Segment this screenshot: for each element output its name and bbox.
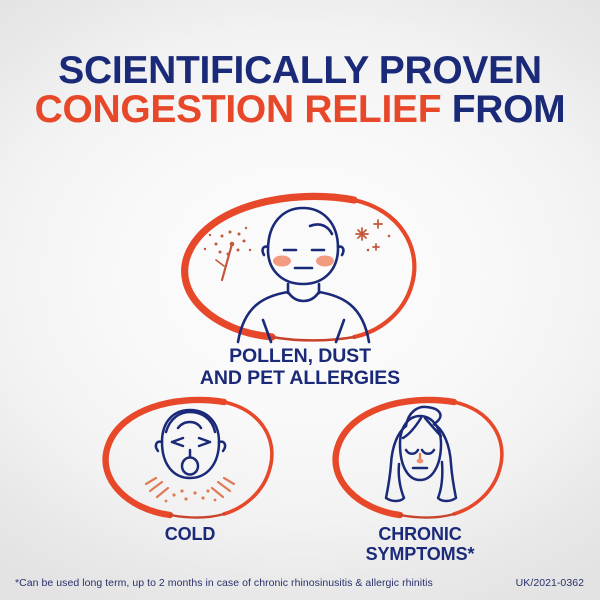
allergy-caption: POLLEN, DUST AND PET ALLERGIES: [172, 346, 428, 390]
page-title: SCIENTIFICALLY PROVEN CONGESTION RELIEF …: [0, 52, 600, 129]
tired-woman-face-icon: [330, 398, 510, 520]
red-nose: [417, 454, 424, 463]
item-allergy: POLLEN, DUST AND PET ALLERGIES: [172, 192, 428, 390]
allergy-icon-area: [172, 192, 428, 342]
chronic-icon-area: [330, 398, 510, 520]
sparkles-icon: [356, 220, 390, 251]
item-chronic: CHRONIC SYMPTOMS*: [330, 398, 510, 564]
chronic-caption: CHRONIC SYMPTOMS*: [330, 524, 510, 564]
headline-line-1: SCIENTIFICALLY PROVEN: [0, 52, 600, 91]
reference-code: UK/2021-0362: [516, 577, 584, 589]
headline-from: FROM: [441, 88, 565, 131]
sneezing-face-icon: [100, 398, 280, 520]
orange-swoosh-ring: [336, 400, 502, 518]
blush-cheeks: [273, 256, 334, 267]
sneezing-head: [156, 410, 225, 478]
poster-canvas: SCIENTIFICALLY PROVEN CONGESTION RELIEF …: [0, 0, 600, 600]
cold-icon-area: [100, 398, 280, 520]
footnote-text: *Can be used long term, up to 2 months i…: [15, 577, 433, 589]
item-cold: COLD: [100, 398, 280, 544]
sneeze-droplets-icon: [146, 478, 234, 497]
child-allergy-face-icon: [172, 192, 428, 342]
sneeze-dots: [165, 489, 217, 502]
child-figure: [238, 208, 369, 342]
headline-line-2: CONGESTION RELIEF FROM: [0, 91, 600, 130]
headline-congestion-relief: CONGESTION RELIEF: [35, 88, 442, 131]
dandelion-icon: [204, 227, 251, 280]
cold-caption: COLD: [100, 524, 280, 544]
